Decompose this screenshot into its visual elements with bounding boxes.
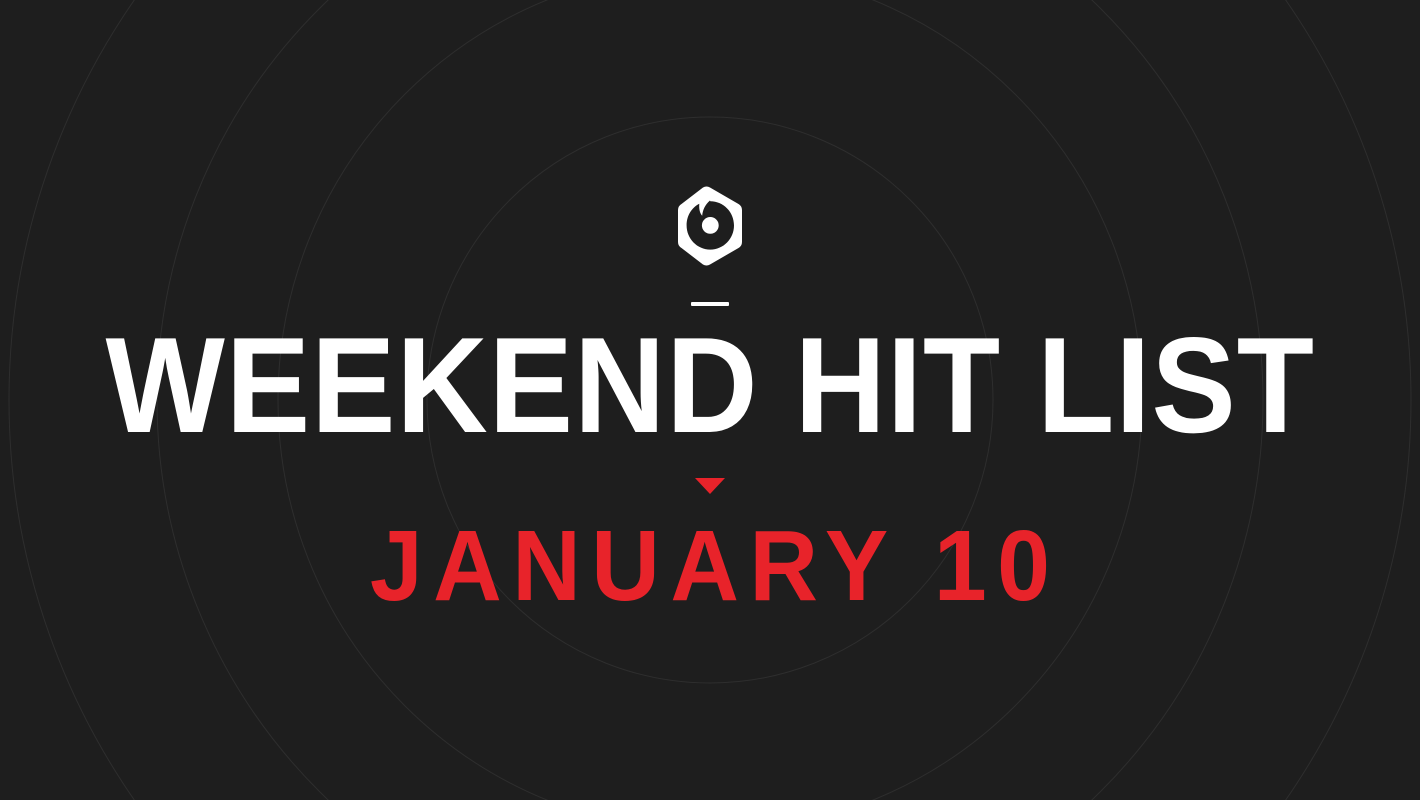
down-caret-icon xyxy=(695,478,725,494)
date-label: JANUARY 10 xyxy=(359,516,1060,616)
hero-stack: WEEKEND HIT LIST JANUARY 10 xyxy=(0,0,1420,800)
divider-rule xyxy=(691,302,729,306)
poster-canvas: WEEKEND HIT LIST JANUARY 10 xyxy=(0,0,1420,800)
hexagon-flame-logo-icon xyxy=(675,186,745,266)
page-title: WEEKEND HIT LIST xyxy=(105,332,1314,438)
